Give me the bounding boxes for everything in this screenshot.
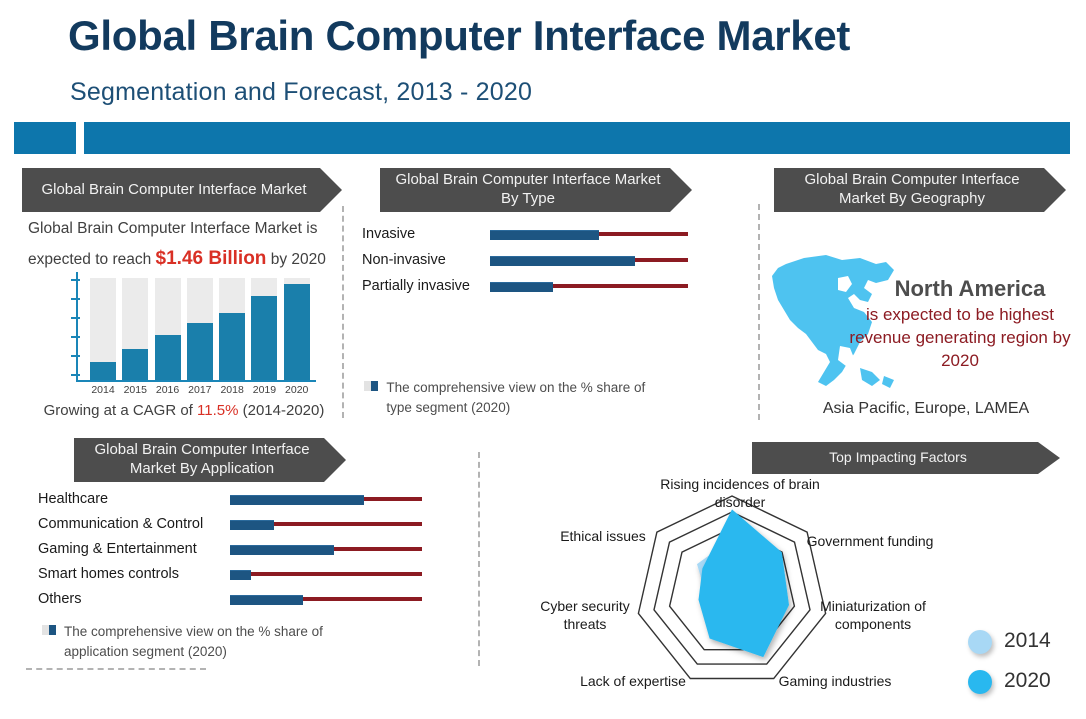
bar-chart-column-bg	[155, 278, 181, 380]
bar-chart-column-bg	[219, 278, 245, 380]
bar-row-fill	[230, 570, 251, 580]
bar-row-track	[230, 597, 422, 601]
bar-row-track	[490, 258, 688, 262]
bar-chart-tick	[71, 336, 80, 338]
bar-row-fill	[230, 520, 274, 530]
bar-chart-tick	[71, 355, 80, 357]
bar-row-label: Others	[38, 591, 224, 607]
bar-row-fill	[230, 595, 303, 605]
section-header-geography: Global Brain Computer Interface Market B…	[774, 168, 1066, 212]
bar-chart-bar	[219, 313, 245, 380]
bar-chart-bar	[284, 284, 310, 380]
table-row: Partially invasive	[362, 278, 688, 294]
bar-row-fill	[490, 230, 599, 240]
bar-row-track	[490, 284, 688, 288]
bar-chart-tick	[71, 279, 80, 281]
bar-row-track	[230, 547, 422, 551]
bar-row-label: Gaming & Entertainment	[38, 541, 224, 557]
bar-chart-year-label: 2018	[215, 384, 249, 396]
section-header-market: Global Brain Computer Interface Market	[22, 168, 342, 212]
top-impacting-factors-radar-chart	[612, 488, 852, 700]
divider-horizontal-bottom	[26, 668, 206, 670]
table-row: Smart homes controls	[38, 566, 422, 582]
table-row: Communication & Control	[38, 516, 422, 532]
section-header-application: Global Brain Computer Interface Market B…	[74, 438, 346, 482]
divider-vertical-left	[342, 206, 344, 418]
radar-legend-dot-icon	[968, 630, 992, 654]
market-value-highlight: $1.46 Billion	[156, 248, 267, 269]
bar-row-label: Partially invasive	[362, 278, 484, 294]
radar-axis-label: Miniaturization of components	[808, 598, 938, 633]
radar-axis-label: Rising incidences of brain disorder	[660, 476, 820, 511]
bar-chart-year-label: 2015	[118, 384, 152, 396]
bar-chart-bar	[251, 296, 277, 380]
bar-chart-x-axis	[76, 380, 316, 382]
legend-gray-swatch-icon	[364, 381, 371, 391]
radar-axis-label: Cyber security threats	[520, 598, 650, 633]
legend-gray-swatch-icon	[42, 625, 49, 635]
banner-accent-block	[14, 122, 76, 154]
bar-chart-column-bg	[122, 278, 148, 380]
bar-row-label: Communication & Control	[38, 516, 224, 532]
bar-row-track	[230, 497, 422, 501]
bar-chart-year-label: 2017	[183, 384, 217, 396]
radar-axis-label: Gaming industries	[760, 673, 910, 691]
section-header-factors: Top Impacting Factors	[752, 442, 1060, 474]
bar-row-track	[490, 232, 688, 236]
type-legend-label: The comprehensive view on the % share of…	[386, 378, 664, 417]
page-title: Global Brain Computer Interface Market	[68, 14, 1028, 58]
cagr-after: (2014-2020)	[238, 402, 324, 419]
bar-chart-column-bg	[90, 278, 116, 380]
bar-chart-tick	[71, 374, 80, 376]
bar-chart-bar	[155, 335, 181, 380]
geography-region-claim: is expected to be highest revenue genera…	[846, 303, 1074, 372]
divider-vertical-right	[758, 204, 760, 420]
cagr-before: Growing at a CAGR of	[44, 402, 197, 419]
radar-axis-label: Government funding	[790, 533, 950, 551]
bar-chart-year-label: 2019	[247, 384, 281, 396]
application-legend: The comprehensive view on the % share of…	[42, 622, 362, 661]
table-row: Others	[38, 591, 422, 607]
bar-chart-bar	[122, 349, 148, 380]
bar-chart-column-bg	[251, 278, 277, 380]
table-row: Invasive	[362, 226, 688, 242]
geography-region-name: North America	[866, 276, 1074, 302]
cagr-text: Growing at a CAGR of 11.5% (2014-2020)	[26, 402, 342, 419]
banner-bar	[84, 122, 1070, 154]
divider-vertical-bottom	[478, 452, 480, 666]
bar-row-fill	[230, 545, 334, 555]
table-row: Non-invasive	[362, 252, 688, 268]
bar-row-track	[230, 522, 422, 526]
bar-chart-year-label: 2014	[86, 384, 120, 396]
legend-blue-swatch-icon	[49, 625, 56, 635]
market-lead-text: Global Brain Computer Interface Market i…	[28, 216, 338, 275]
bar-chart-year-label: 2016	[151, 384, 185, 396]
bar-row-fill	[490, 282, 553, 292]
type-legend: The comprehensive view on the % share of…	[364, 378, 664, 417]
legend-blue-swatch-icon	[371, 381, 378, 391]
bar-row-fill	[490, 256, 635, 266]
bar-chart-column-bg	[187, 278, 213, 380]
bar-row-track	[230, 572, 422, 576]
bar-chart-bar	[90, 362, 116, 380]
bar-chart-y-axis	[76, 272, 78, 382]
cagr-highlight: 11.5%	[197, 402, 238, 419]
page-subtitle: Segmentation and Forecast, 2013 - 2020	[70, 78, 970, 107]
radar-legend-label: 2020	[1004, 669, 1051, 693]
radar-legend-dot-icon	[968, 670, 992, 694]
table-row: Healthcare	[38, 491, 422, 507]
section-header-type: Global Brain Computer Interface Market B…	[380, 168, 692, 212]
radar-legend-label: 2014	[1004, 629, 1051, 653]
bar-chart-year-label: 2020	[280, 384, 314, 396]
bar-row-fill	[230, 495, 364, 505]
table-row: Gaming & Entertainment	[38, 541, 422, 557]
bar-row-label: Smart homes controls	[38, 566, 224, 582]
radar-axis-label: Lack of expertise	[558, 673, 708, 691]
bar-chart-bar	[187, 323, 213, 380]
market-lead-after: by 2020	[266, 251, 325, 268]
bar-chart-tick	[71, 317, 80, 319]
geography-other-regions: Asia Pacific, Europe, LAMEA	[780, 400, 1072, 418]
market-bar-chart	[76, 272, 316, 382]
bar-row-label: Non-invasive	[362, 252, 484, 268]
radar-axis-label: Ethical issues	[538, 528, 668, 546]
radar-series-2020	[699, 509, 790, 657]
infographic-canvas: Global Brain Computer Interface Market S…	[0, 0, 1086, 719]
bar-row-label: Invasive	[362, 226, 484, 242]
bar-chart-tick	[71, 298, 80, 300]
application-legend-label: The comprehensive view on the % share of…	[64, 622, 362, 661]
bar-chart-column-bg	[284, 278, 310, 380]
bar-row-label: Healthcare	[38, 491, 224, 507]
